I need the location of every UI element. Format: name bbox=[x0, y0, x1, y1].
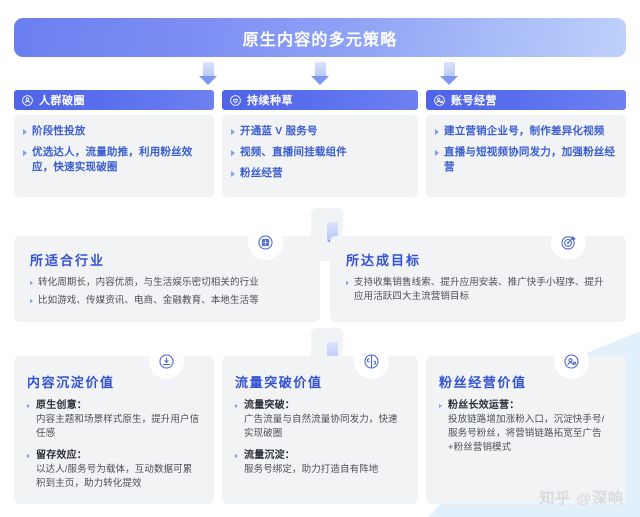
list-item-label: 流量突破： bbox=[244, 399, 405, 413]
column-body-2: 开通蓝 V 服务号 视频、直播间挂载组件 粉丝经营 bbox=[222, 115, 418, 197]
watermark-handle: @深响 bbox=[576, 487, 624, 508]
arrow-down-to-column-1 bbox=[199, 62, 217, 85]
list-item-label: 流量沉淀： bbox=[244, 449, 405, 463]
panel-content-precipitation-value: 内容沉淀价值 原生创意： 内容主题和场景样式原生，提升用户信任感 留存效应： 以… bbox=[14, 356, 214, 504]
strategy-column-account-operation: 账号经营 建立营销企业号，制作差异化视频 直播与短视频协同发力，加强粉丝经营 bbox=[426, 90, 626, 197]
panel-heading: 内容沉淀价值 bbox=[27, 372, 201, 391]
list-item: 优选达人，流量助推，利用粉丝效应，快速实现破圈 bbox=[23, 145, 205, 175]
column-header-2: 持续种草 bbox=[222, 90, 418, 110]
target-dart-icon bbox=[555, 229, 582, 256]
list-item: 比如游戏、传媒资讯、电商、金融教育、本地生活等 bbox=[30, 294, 304, 308]
list-item: 直播与短视频协同发力，加强粉丝经营 bbox=[435, 145, 617, 175]
list-item: 阶段性投放 bbox=[23, 124, 205, 139]
list-item: 流量沉淀： 服务号绑定，助力打造自有阵地 bbox=[235, 449, 405, 477]
list-item: 支持收集销售线索、提升应用安装、推广快手小程序、提升应用活跃四大主流营销目标 bbox=[346, 276, 610, 304]
arrow-down-to-column-2 bbox=[311, 62, 329, 85]
list-item-desc: 服务号绑定，助力打造自有阵地 bbox=[244, 463, 405, 477]
heart-shield-icon bbox=[229, 94, 242, 107]
panel-heading: 流量突破价值 bbox=[235, 372, 405, 391]
account-user-icon bbox=[433, 94, 446, 107]
column-header-3: 账号经营 bbox=[426, 90, 626, 110]
fan-user-icon bbox=[558, 348, 585, 375]
page-title: 原生内容的多元策略 bbox=[243, 26, 398, 50]
panel-fan-operation-value: 粉丝经营价值 粉丝长效运营： 投放链路增加涨粉入口，沉淀快手号/服务号粉丝，将营… bbox=[426, 356, 626, 504]
list-item: 流量突破： 广告流量与自然流量协同发力，快速实现破圈 bbox=[235, 399, 405, 441]
list-item-label: 原生创意： bbox=[36, 399, 201, 413]
column-header-label-1: 人群破圈 bbox=[39, 92, 85, 108]
column-body-3: 建立营销企业号，制作差异化视频 直播与短视频协同发力，加强粉丝经营 bbox=[426, 115, 626, 197]
list-item: 粉丝经营 bbox=[231, 166, 409, 181]
list-item: 留存效应： 以达人/服务号为载体，互动数据可累积到主页，助力转化提效 bbox=[27, 449, 201, 491]
download-circle-icon bbox=[153, 348, 180, 375]
list-item: 原生创意： 内容主题和场景样式原生，提升用户信任感 bbox=[27, 399, 201, 441]
column-header-label-3: 账号经营 bbox=[451, 92, 497, 108]
panel-heading: 粉丝经营价值 bbox=[439, 372, 613, 391]
growth-circle-icon bbox=[358, 348, 385, 375]
people-group-icon bbox=[21, 94, 34, 107]
list-item: 转化周期长，内容优质，与生活娱乐密切相关的行业 bbox=[30, 276, 304, 290]
arrow-down-to-column-3 bbox=[440, 62, 458, 85]
column-body-1: 阶段性投放 优选达人，流量助推，利用粉丝效应，快速实现破圈 bbox=[14, 115, 214, 197]
watermark-site: 知乎 bbox=[539, 487, 571, 508]
panel-marketing-goals: 所达成目标 支持收集销售线索、提升应用安装、推广快手小程序、提升应用活跃四大主流… bbox=[330, 236, 626, 322]
infographic-canvas: 原生内容的多元策略 人群破圈 阶段性投放 优选达人，流量助推，利用粉丝效应，快速… bbox=[0, 0, 640, 517]
list-item: 开通蓝 V 服务号 bbox=[231, 124, 409, 139]
page-title-banner: 原生内容的多元策略 bbox=[14, 18, 626, 57]
list-item: 建立营销企业号，制作差异化视频 bbox=[435, 124, 617, 139]
column-header-label-2: 持续种草 bbox=[247, 92, 293, 108]
list-item-label: 粉丝长效运营： bbox=[448, 399, 613, 413]
list-item: 粉丝长效运营： 投放链路增加涨粉入口，沉淀快手号/服务号粉丝，将营销链路拓宽至广… bbox=[439, 399, 613, 455]
watermark: 知乎 @深响 bbox=[539, 487, 624, 508]
list-item-label: 留存效应： bbox=[36, 449, 201, 463]
list-item: 视频、直播间挂载组件 bbox=[231, 145, 409, 160]
column-header-1: 人群破圈 bbox=[14, 90, 214, 110]
panel-traffic-breakthrough-value: 流量突破价值 流量突破： 广告流量与自然流量协同发力，快速实现破圈 流量沉淀： … bbox=[222, 356, 418, 504]
strategy-column-crowd-breakthrough: 人群破圈 阶段性投放 优选达人，流量助推，利用粉丝效应，快速实现破圈 bbox=[14, 90, 214, 197]
list-item-desc: 内容主题和场景样式原生，提升用户信任感 bbox=[36, 413, 201, 441]
list-item-desc: 投放链路增加涨粉入口，沉淀快手号/服务号粉丝，将营销链路拓宽至广告+粉丝营销模式 bbox=[448, 413, 613, 455]
grid-circle-icon bbox=[252, 229, 279, 256]
list-item-desc: 广告流量与自然流量协同发力，快速实现破圈 bbox=[244, 413, 405, 441]
strategy-column-continuous-seeding: 持续种草 开通蓝 V 服务号 视频、直播间挂载组件 粉丝经营 bbox=[222, 90, 418, 197]
list-item-desc: 以达人/服务号为载体，互动数据可累积到主页，助力转化提效 bbox=[36, 463, 201, 491]
